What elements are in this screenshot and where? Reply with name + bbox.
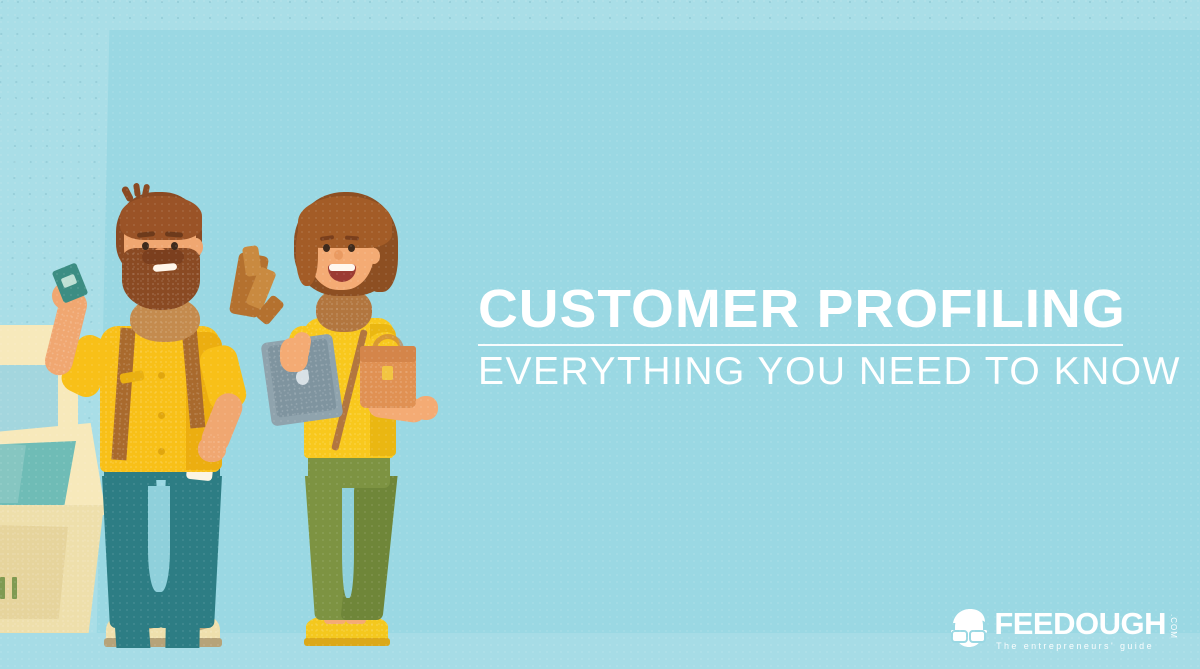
page-subtitle: EVERYTHING YOU NEED TO KNOW (478, 352, 1126, 393)
hero-title-block: CUSTOMER PROFILING EVERYTHING YOU NEED T… (478, 282, 1126, 393)
counter-vent-slats (0, 577, 17, 599)
logo-wordmark: FEEDOUGH (994, 608, 1166, 639)
background-top-band (0, 0, 1200, 30)
logo-tagline: The entrepreneurs' guide (994, 641, 1166, 651)
article-hero-banner: CUSTOMER PROFILING EVERYTHING YOU NEED T… (0, 0, 1200, 669)
feedough-logo[interactable]: FEEDOUGH .COM The entrepreneurs' guide (949, 608, 1178, 651)
illustration-woman-with-tablet (272, 192, 442, 654)
page-title: CUSTOMER PROFILING (478, 282, 1139, 336)
illustration-bearded-man (38, 186, 288, 661)
bespectacled-face-icon (949, 609, 989, 651)
title-divider-rule (478, 344, 1123, 346)
logo-tld: .COM (1169, 614, 1178, 639)
